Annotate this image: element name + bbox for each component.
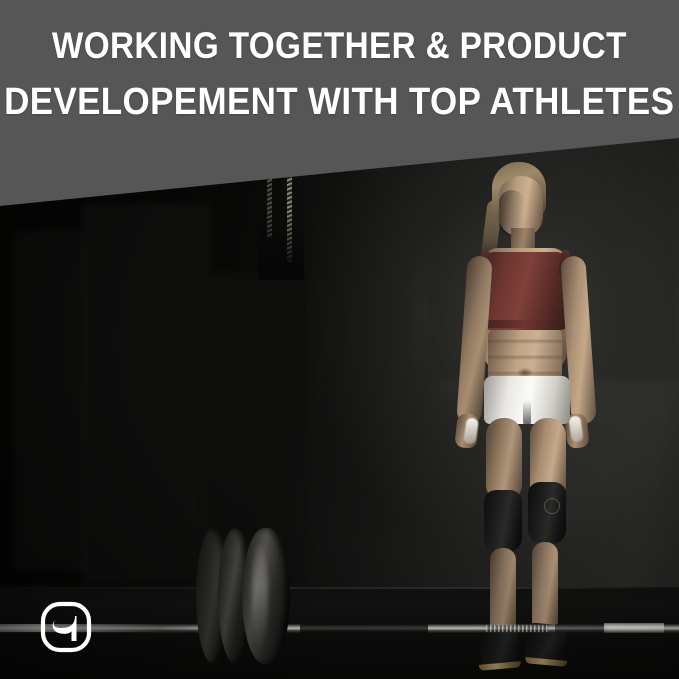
wall-panel — [14, 231, 89, 571]
barbell-shadow — [555, 624, 607, 633]
knee-sleeve-logo-icon — [544, 498, 560, 514]
headline-line-1: WORKING TOGETHER & PRODUCT — [52, 27, 627, 64]
barbell-sleeve-right — [604, 623, 664, 633]
wall-panel — [81, 204, 210, 584]
barbell-shaft-left — [0, 624, 200, 632]
promo-banner-image: WORKING TOGETHER & PRODUCT DEVELOPEMENT … — [0, 0, 679, 679]
knee-sleeve-right — [528, 482, 566, 544]
barbell-shadow — [300, 624, 428, 633]
athlete-figure — [420, 160, 630, 679]
headline-line-2: DEVELOPEMENT WITH TOP ATHLETES — [4, 83, 674, 121]
shin-right — [532, 542, 558, 634]
shorts-shadow — [523, 400, 531, 426]
rehband-logo-icon — [40, 601, 92, 653]
bumper-plates — [196, 528, 304, 664]
knee-sleeve-left — [484, 490, 522, 552]
plate-highlight — [252, 544, 268, 648]
sports-bra — [480, 252, 570, 330]
barbell-knurling — [486, 625, 548, 632]
rope-shadow-fade — [258, 210, 304, 280]
thigh-left — [486, 418, 522, 498]
bra-band — [482, 320, 568, 328]
